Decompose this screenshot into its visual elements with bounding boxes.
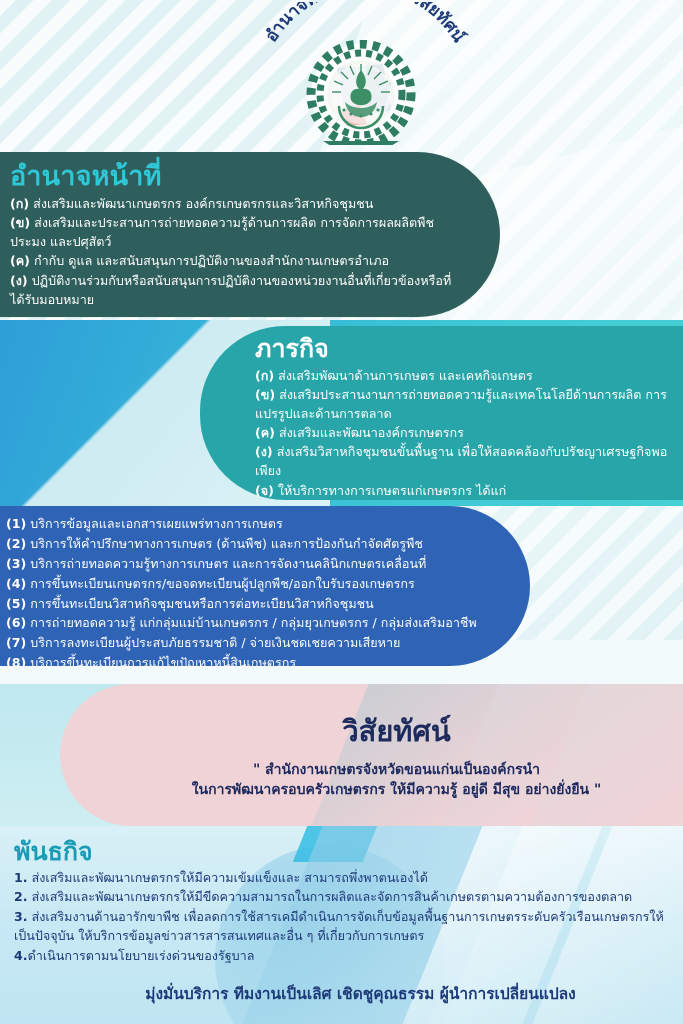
mandate-item-text: ส่งเสริมและพัฒนาเกษตรกรให้มีความเข้มแข็ง… <box>32 870 428 885</box>
service-item-label: (5) <box>6 596 26 611</box>
service-item-label: (4) <box>6 576 26 591</box>
mandate-item-label: 1. <box>14 870 28 885</box>
service-item: (4) การขึ้นทะเบียนเกษตรกร/ขอจดทะเบียนผู้… <box>6 574 510 594</box>
service-item: (7) บริการลงทะเบียนผู้ประสบภัยธรรมชาติ /… <box>6 633 510 653</box>
mandate-list: 1. ส่งเสริมและพัฒนาเกษตรกรให้มีความเข้มแ… <box>14 868 667 966</box>
authority-item-text: ส่งเสริมและพัฒนาเกษตรกร องค์กรเกษตรกรและ… <box>33 196 373 211</box>
service-item-text: บริการให้คำปรึกษาทางการเกษตร (ด้านพืช) แ… <box>30 536 423 551</box>
mandate-item: 3. ส่งเสริมงานด้านอารักขาพืช เพื่อลดการใ… <box>14 907 667 946</box>
infographic-page: อำนาจหน้าที่ ภารกิจ วิสัยทัศน์ <box>0 0 683 1024</box>
authority-list: (ก) ส่งเสริมและพัฒนาเกษตรกร องค์กรเกษตรก… <box>10 194 460 310</box>
service-item-text: บริการลงทะเบียนผู้ประสบภัยธรรมชาติ / จ่า… <box>30 635 400 650</box>
services-list: (1) บริการข้อมูลและเอกสารเผยแพร่ทางการเก… <box>6 514 510 673</box>
mandate-item-label: 4. <box>14 948 28 963</box>
service-item-text: การถ่ายทอดความรู้ แก่กลุ่มแม่บ้านเกษตรกร… <box>30 615 476 630</box>
authority-item: (ข) ส่งเสริมและประสานการถ่ายทอดความรู้ด้… <box>10 213 460 252</box>
mandate-item-label: 3. <box>14 909 28 924</box>
footer-slogan: มุ่งมั่นบริการ ทีมงานเป็นเลิศ เชิดชูคุณธ… <box>14 981 667 1006</box>
service-item-text: การขึ้นทะเบียนเกษตรกร/ขอจดทะเบียนผู้ปลูก… <box>30 576 414 591</box>
mandate-item: 2. ส่งเสริมและพัฒนาเกษตรกรให้มีขีดความสา… <box>14 887 667 907</box>
service-item-text: บริการข้อมูลและเอกสารเผยแพร่ทางการเกษตร <box>30 516 282 531</box>
mission-heading: ภารกิจ <box>255 335 673 364</box>
authority-panel: อำนาจหน้าที่ (ก) ส่งเสริมและพัฒนาเกษตรกร… <box>0 152 500 317</box>
authority-item: (ค) กำกับ ดูแล และสนับสนุนการปฏิบัติงานข… <box>10 251 460 270</box>
mission-item-label: (จ) <box>255 483 274 498</box>
mission-item-text: ส่งเสริมและพัฒนาองค์กรเกษตรกร <box>279 425 464 440</box>
mission-item-label: (ง) <box>255 444 273 459</box>
service-item-label: (6) <box>6 615 26 630</box>
authority-item-text: ส่งเสริมและประสานการถ่ายทอดความรู้ด้านกา… <box>10 215 434 249</box>
mandate-item: 1. ส่งเสริมและพัฒนาเกษตรกรให้มีความเข้มแ… <box>14 868 667 888</box>
service-item-label: (8) <box>6 655 26 670</box>
service-item-label: (1) <box>6 516 26 531</box>
mandate-item: 4.ดำเนินการตามนโยบายเร่งด่วนของรัฐบาล <box>14 946 667 966</box>
mission-item-label: (ค) <box>255 425 275 440</box>
header: อำนาจหน้าที่ ภารกิจ วิสัยทัศน์ <box>0 0 683 150</box>
department-seal-icon <box>292 40 430 145</box>
service-item-label: (7) <box>6 635 26 650</box>
vision-section: วิสัยทัศน์ " สำนักงานเกษตรจังหวัดขอนแก่น… <box>0 694 683 824</box>
service-item: (1) บริการข้อมูลและเอกสารเผยแพร่ทางการเก… <box>6 514 510 534</box>
service-item: (8) บริการขึ้นทะเบียนการแก้ไขปัญหาหนี้สิ… <box>6 653 510 673</box>
vision-quote-line: " สำนักงานเกษตรจังหวัดขอนแก่นเป็นองค์กรน… <box>110 760 683 780</box>
mandate-item-text: ดำเนินการตามนโยบายเร่งด่วนของรัฐบาล <box>28 948 255 963</box>
mission-item: (ค) ส่งเสริมและพัฒนาองค์กรเกษตรกร <box>255 423 673 442</box>
vision-quote: " สำนักงานเกษตรจังหวัดขอนแก่นเป็นองค์กรน… <box>0 760 683 801</box>
mandate-section: พันธกิจ 1. ส่งเสริมและพัฒนาเกษตรกรให้มีค… <box>0 838 683 1006</box>
mission-item-label: (ก) <box>255 368 274 383</box>
services-panel: (1) บริการข้อมูลและเอกสารเผยแพร่ทางการเก… <box>0 506 530 666</box>
authority-heading: อำนาจหน้าที่ <box>10 162 460 192</box>
authority-item-label: (ง) <box>10 273 28 288</box>
mission-item-text: ส่งเสริมประสานงานการถ่ายทอดความรู้และเทค… <box>255 387 667 421</box>
authority-item-label: (ค) <box>10 253 30 268</box>
service-item-text: การขึ้นทะเบียนวิสาหกิจชุมชนหรือการต่อทะเ… <box>30 596 374 611</box>
authority-item: (ง) ปฏิบัติงานร่วมกับหรือสนับสนุนการปฏิบ… <box>10 271 460 310</box>
mission-item: (ข) ส่งเสริมประสานงานการถ่ายทอดความรู้แล… <box>255 385 673 423</box>
mission-item: (ง) ส่งเสริมวิสาหกิจชุมชนขั้นพื้นฐาน เพื… <box>255 442 673 480</box>
mission-list: (ก) ส่งเสริมพัฒนาด้านการเกษตร และเคหกิจเ… <box>255 366 673 500</box>
mandate-item-text: ส่งเสริมและพัฒนาเกษตรกรให้มีขีดความสามาร… <box>32 889 633 904</box>
mandate-heading: พันธกิจ <box>14 838 667 866</box>
mission-item-label: (ข) <box>255 387 275 402</box>
mission-item: (ก) ส่งเสริมพัฒนาด้านการเกษตร และเคหกิจเ… <box>255 366 673 385</box>
service-item: (5) การขึ้นทะเบียนวิสาหกิจชุมชนหรือการต่… <box>6 594 510 614</box>
service-item: (3) บริการถ่ายทอดความรู้ทางการเกษตร และก… <box>6 554 510 574</box>
authority-item-text: กำกับ ดูแล และสนับสนุนการปฏิบัติงานของสำ… <box>34 253 389 268</box>
authority-item: (ก) ส่งเสริมและพัฒนาเกษตรกร องค์กรเกษตรก… <box>10 194 460 213</box>
mission-panel: ภารกิจ (ก) ส่งเสริมพัฒนาด้านการเกษตร และ… <box>200 326 683 500</box>
service-item: (6) การถ่ายทอดความรู้ แก่กลุ่มแม่บ้านเกษ… <box>6 613 510 633</box>
mission-item-text: ส่งเสริมวิสาหกิจชุมชนขั้นพื้นฐาน เพื่อให… <box>255 444 667 478</box>
mandate-item-label: 2. <box>14 889 28 904</box>
vision-quote-line: ในการพัฒนาครอบครัวเกษตรกร ให้มีความรู้ อ… <box>110 780 683 800</box>
mission-item: (จ) ให้บริการทางการเกษตรแก่เกษตรกร ได้แก… <box>255 481 673 500</box>
mission-item-text: ให้บริการทางการเกษตรแก่เกษตรกร ได้แก่ <box>278 483 506 498</box>
service-item-label: (2) <box>6 536 26 551</box>
service-item-label: (3) <box>6 556 26 571</box>
authority-item-label: (ข) <box>10 215 30 230</box>
authority-item-label: (ก) <box>10 196 29 211</box>
authority-item-text: ปฏิบัติงานร่วมกับหรือสนับสนุนการปฏิบัติง… <box>10 273 451 307</box>
mission-item-text: ส่งเสริมพัฒนาด้านการเกษตร และเคหกิจเกษตร <box>278 368 533 383</box>
service-item-text: บริการขึ้นทะเบียนการแก้ไขปัญหาหนี้สินเกษ… <box>30 655 296 670</box>
service-item: (2) บริการให้คำปรึกษาทางการเกษตร (ด้านพื… <box>6 534 510 554</box>
service-item-text: บริการถ่ายทอดความรู้ทางการเกษตร และการจั… <box>30 556 426 571</box>
mandate-item-text: ส่งเสริมงานด้านอารักขาพืช เพื่อลดการใช้ส… <box>14 909 664 944</box>
vision-heading: วิสัยทัศน์ <box>0 708 683 754</box>
